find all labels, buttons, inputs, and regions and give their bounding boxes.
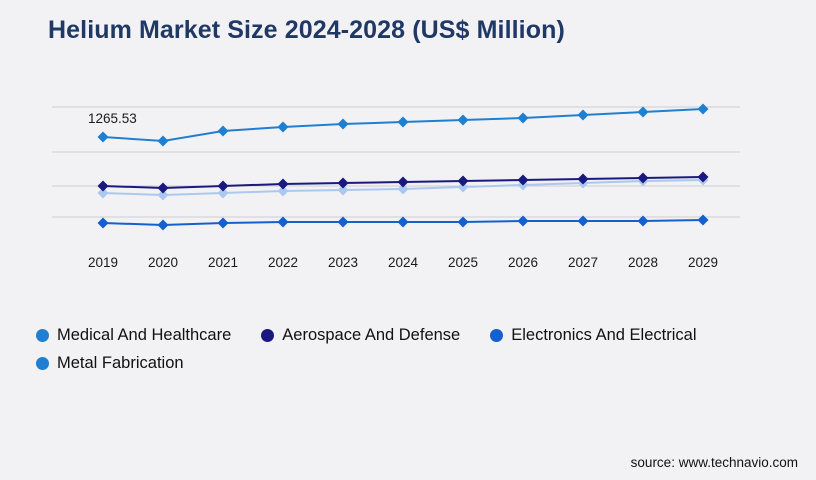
series-marker	[338, 217, 349, 228]
series-marker	[218, 126, 229, 137]
legend-marker-icon	[490, 329, 503, 342]
series-marker	[158, 136, 169, 147]
series-marker	[458, 217, 469, 228]
series-marker	[158, 183, 169, 194]
series-marker	[338, 178, 349, 189]
gridlines	[52, 107, 740, 217]
x-axis-tick: 2023	[328, 255, 358, 270]
legend-row: Metal Fabrication	[36, 350, 796, 376]
series-marker	[458, 115, 469, 126]
series-marker	[98, 218, 109, 229]
series-marker	[398, 217, 409, 228]
series-marker	[158, 220, 169, 231]
series-marker	[338, 119, 349, 130]
legend-marker-icon	[261, 329, 274, 342]
x-axis-tick-labels: 2019202020212022202320242025202620272028…	[0, 255, 816, 279]
series-marker	[698, 215, 709, 226]
data-point-label: 1265.53	[88, 111, 137, 126]
series-marker	[638, 107, 649, 118]
x-axis-tick: 2028	[628, 255, 658, 270]
series-marker	[218, 218, 229, 229]
series-marker	[698, 104, 709, 115]
legend-item[interactable]: Electronics And Electrical	[490, 322, 696, 348]
x-axis-tick: 2027	[568, 255, 598, 270]
x-axis-tick: 2026	[508, 255, 538, 270]
x-axis-tick: 2020	[148, 255, 178, 270]
series-marker	[98, 132, 109, 143]
series-marker	[458, 176, 469, 187]
legend-marker-icon	[36, 357, 49, 370]
x-axis-tick: 2024	[388, 255, 418, 270]
legend-item-label: Electronics And Electrical	[511, 326, 696, 345]
series-marker	[278, 179, 289, 190]
legend-item-label: Aerospace And Defense	[282, 326, 460, 345]
source-attribution: source: www.technavio.com	[631, 455, 798, 470]
legend-row: Medical And HealthcareAerospace And Defe…	[36, 322, 796, 348]
x-axis-tick: 2022	[268, 255, 298, 270]
series-marker	[98, 181, 109, 192]
series-marker	[518, 113, 529, 124]
series-marker	[218, 181, 229, 192]
chart-series	[98, 104, 709, 147]
x-axis-tick: 2019	[88, 255, 118, 270]
series-marker	[278, 217, 289, 228]
legend-marker-icon	[36, 329, 49, 342]
series-lines	[98, 104, 709, 231]
chart-legend: Medical And HealthcareAerospace And Defe…	[36, 322, 796, 378]
series-marker	[278, 122, 289, 133]
legend-item[interactable]: Aerospace And Defense	[261, 322, 460, 348]
x-axis-tick: 2029	[688, 255, 718, 270]
series-marker	[578, 110, 589, 121]
x-axis-tick: 2025	[448, 255, 478, 270]
legend-item[interactable]: Metal Fabrication	[36, 350, 184, 376]
legend-item-label: Metal Fabrication	[57, 354, 184, 373]
chart-card: Helium Market Size 2024-2028 (US$ Millio…	[0, 0, 816, 480]
legend-item[interactable]: Medical And Healthcare	[36, 322, 231, 348]
legend-item-label: Medical And Healthcare	[57, 326, 231, 345]
series-marker	[398, 117, 409, 128]
x-axis-tick: 2021	[208, 255, 238, 270]
